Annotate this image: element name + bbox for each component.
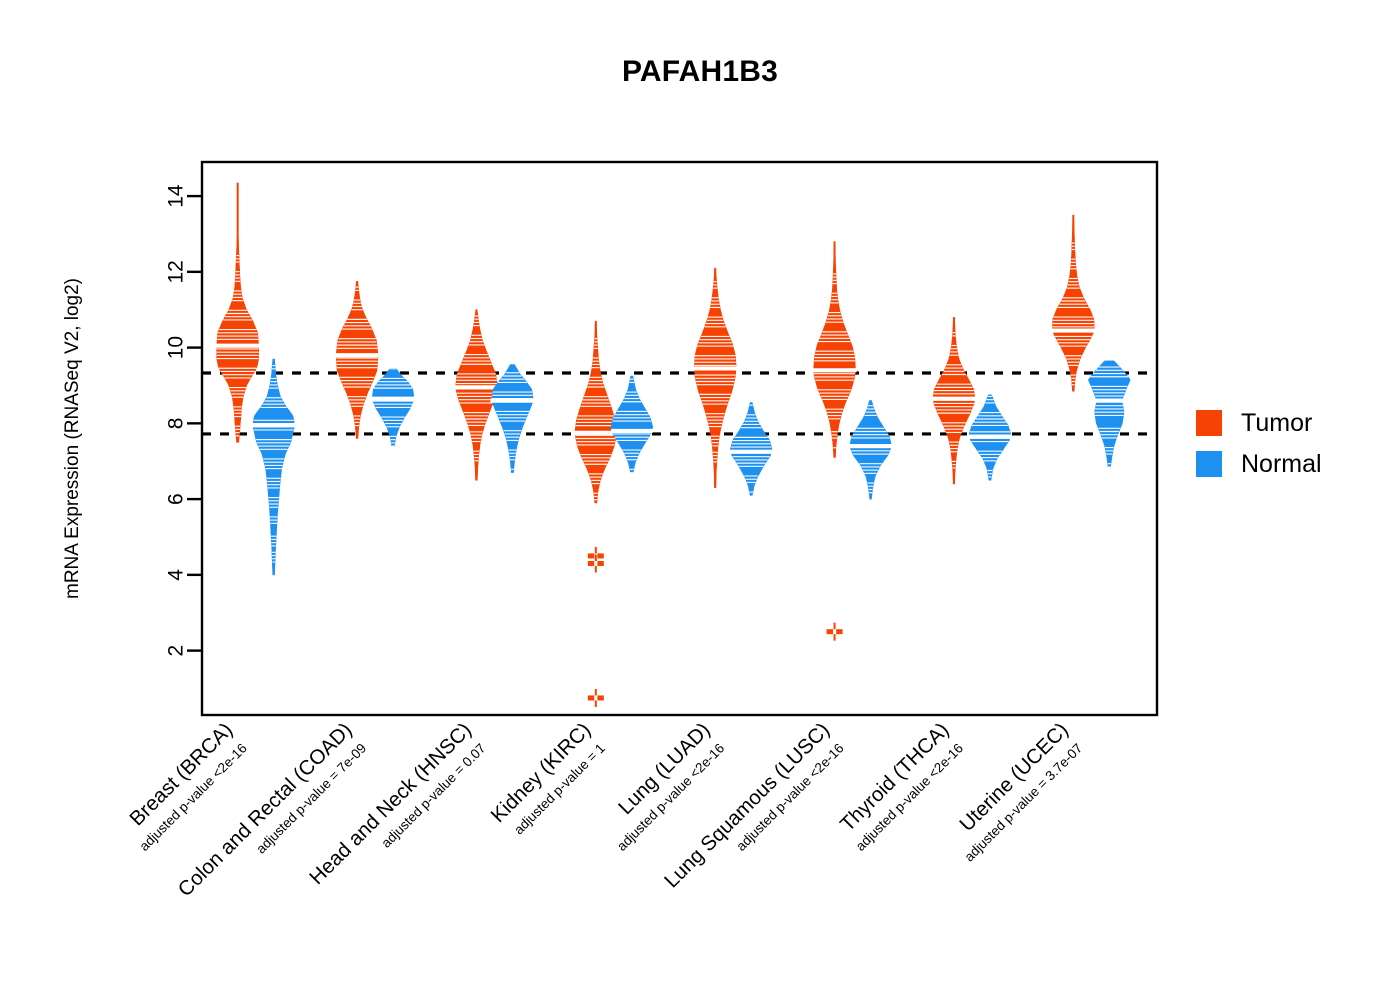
legend-label-normal[interactable]: Normal: [1241, 450, 1322, 478]
x-axis: Breast (BRCA)adjusted p-value <2e-16Colo…: [125, 718, 1085, 901]
violin-tumor: [216, 183, 260, 443]
y-axis-title: mRNA Expression (RNASeq V2, log2): [62, 278, 83, 599]
violin-normal: [730, 403, 773, 496]
violin-normal: [849, 401, 893, 500]
violin-normal: [1088, 361, 1130, 467]
plot-border: [202, 162, 1157, 715]
y-tick-label: 4: [165, 569, 188, 581]
box-plot-canvas: 2468101214mRNA Expression (RNASeq V2, lo…: [0, 0, 1400, 1000]
y-tick-label: 10: [165, 336, 188, 359]
legend-swatch-tumor[interactable]: [1196, 410, 1222, 436]
violin-series: [216, 183, 1131, 707]
y-tick-label: 8: [165, 418, 188, 430]
violin-tumor: [454, 310, 498, 481]
violin-tumor: [932, 317, 976, 484]
y-tick-label: 12: [165, 260, 188, 283]
y-axis: 2468101214mRNA Expression (RNASeq V2, lo…: [62, 184, 202, 656]
y-tick-label: 6: [165, 493, 188, 505]
legend-label-tumor[interactable]: Tumor: [1241, 409, 1312, 437]
violin-normal: [968, 395, 1011, 480]
violin-tumor: [693, 268, 737, 488]
y-tick-label: 2: [165, 645, 188, 657]
outlier-point: [588, 689, 604, 707]
violin-normal: [490, 365, 534, 473]
y-tick-label: 14: [165, 184, 188, 208]
violin-tumor: [813, 242, 857, 641]
violin-normal: [611, 376, 653, 473]
legend-swatch-normal[interactable]: [1196, 451, 1222, 477]
violin-tumor: [335, 281, 379, 438]
violin-tumor: [574, 321, 618, 707]
outlier-point: [827, 623, 843, 641]
legend[interactable]: TumorNormal: [1196, 409, 1322, 478]
violin-tumor: [1051, 215, 1095, 391]
violin-normal: [252, 359, 296, 575]
chart-root: PAFAH1B3 2468101214mRNA Expression (RNAS…: [0, 0, 1400, 1000]
plot-frame: [202, 162, 1157, 715]
